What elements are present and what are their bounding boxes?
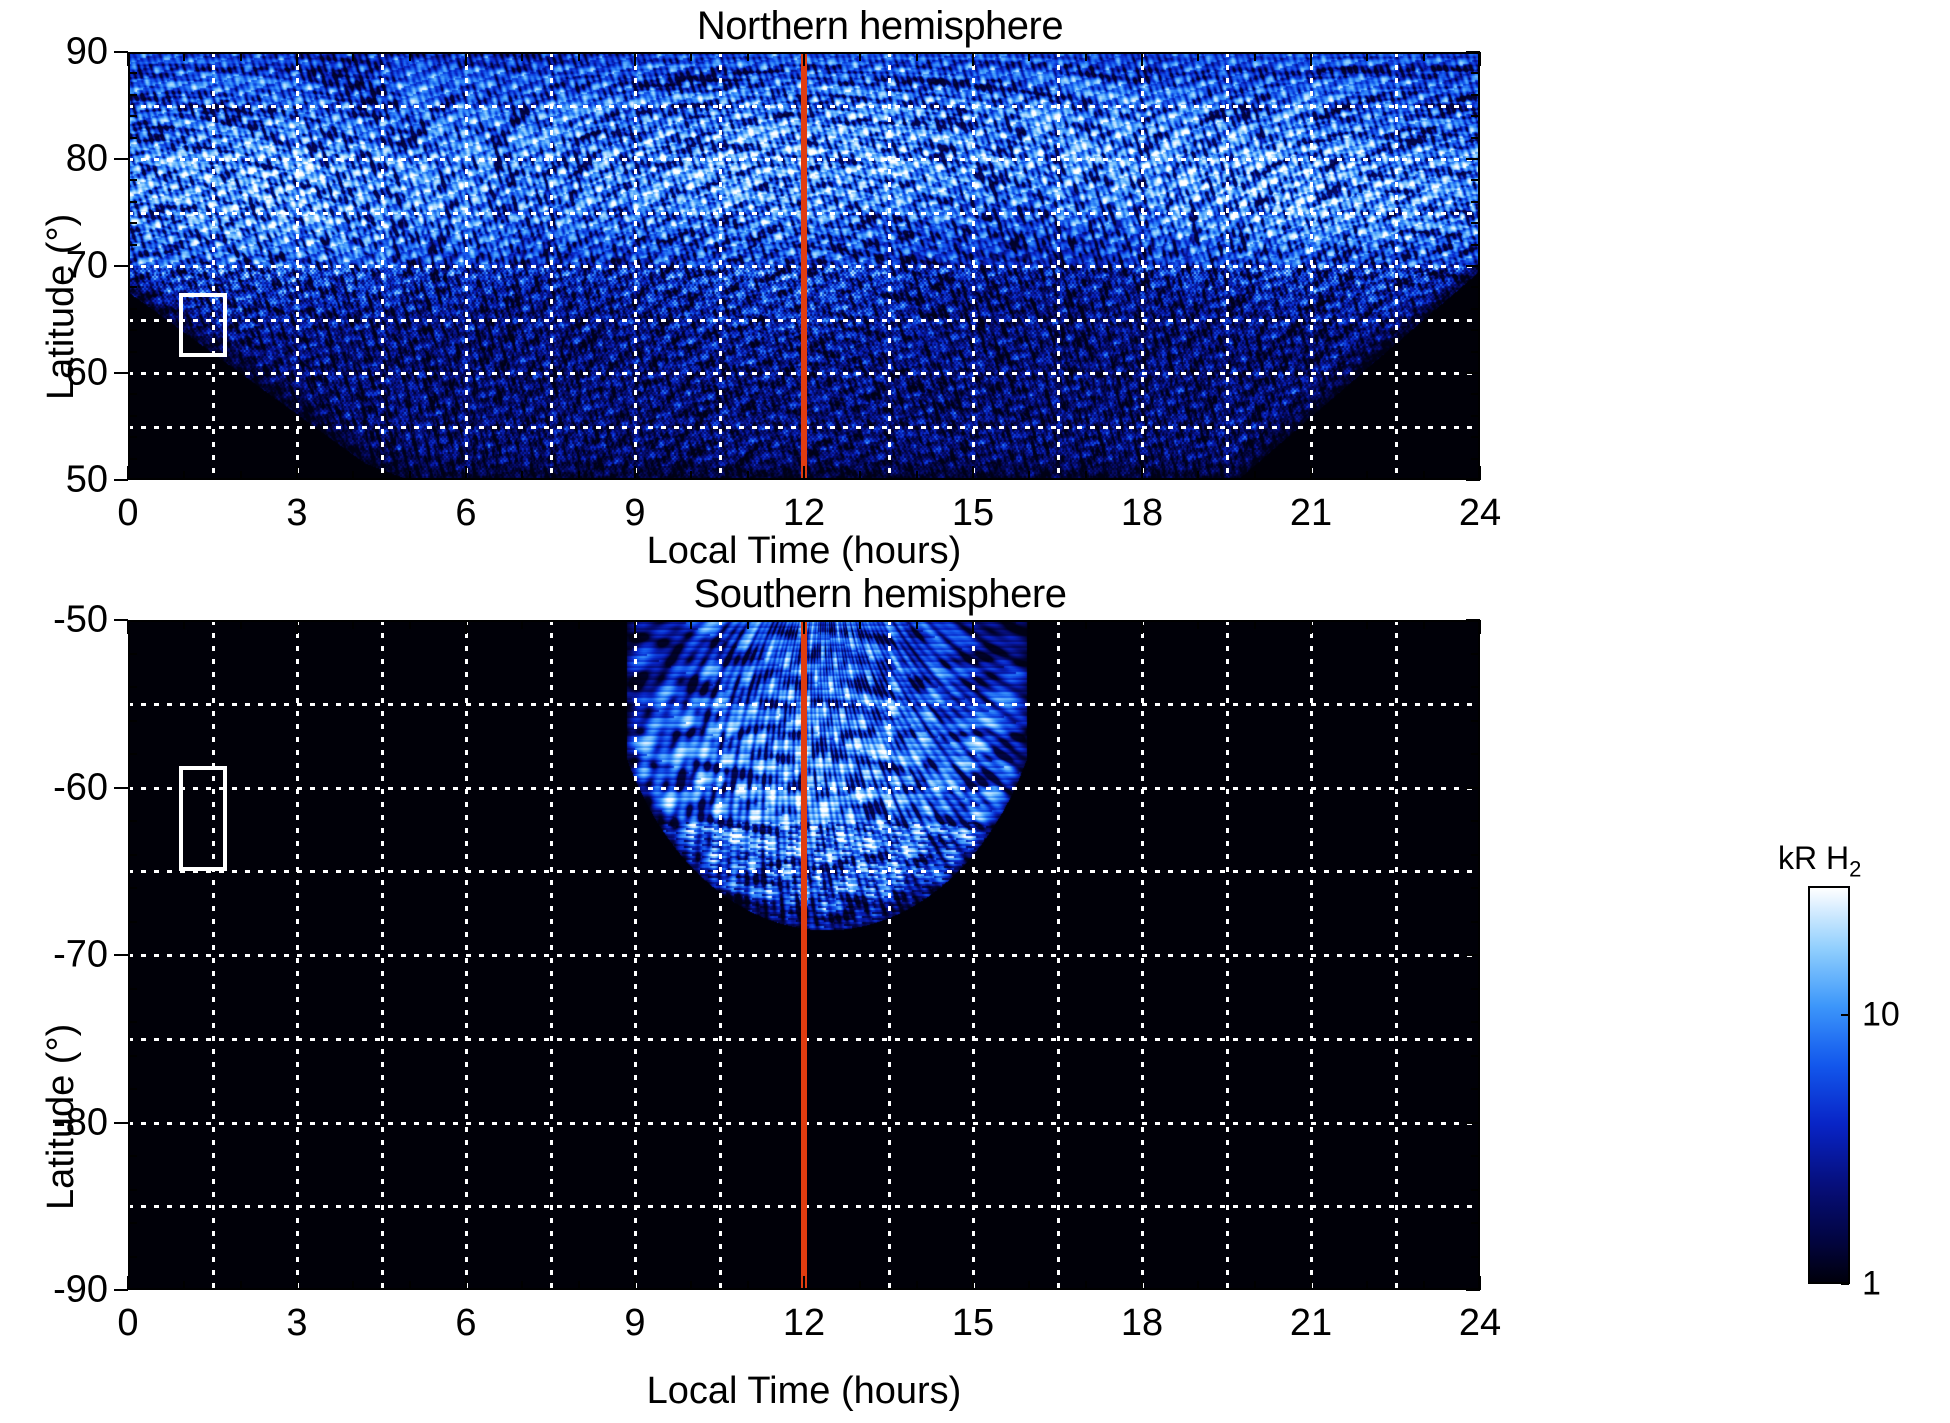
xaxis-tick-label: 21 xyxy=(1290,492,1332,535)
yaxis-minor-tick xyxy=(1471,1155,1480,1157)
yaxis-minor-tick xyxy=(128,179,137,181)
xaxis-tick-label: 6 xyxy=(455,1302,476,1345)
yaxis-minor-tick xyxy=(128,854,137,856)
yaxis-minor-tick xyxy=(1471,244,1480,246)
yaxis-title-southern: Latitude (°) xyxy=(40,1024,83,1210)
yaxis-minor-tick xyxy=(128,1189,137,1191)
colorbar-unit-subscript: 2 xyxy=(1849,856,1861,881)
xaxis-title-northern: Local Time (hours) xyxy=(128,530,1480,573)
xaxis-tick-label: 24 xyxy=(1459,1302,1501,1345)
yaxis-minor-tick xyxy=(1471,286,1480,288)
yaxis-minor-tick xyxy=(1471,115,1480,117)
xaxis-minor-tick xyxy=(1254,471,1256,480)
xaxis-major-tick xyxy=(127,466,129,480)
xaxis-major-tick xyxy=(972,52,974,66)
xaxis-minor-tick xyxy=(747,620,749,629)
yaxis-minor-tick xyxy=(128,415,137,417)
xaxis-major-tick xyxy=(465,466,467,480)
colorbar-unit-label: kR H2 xyxy=(1778,840,1861,882)
xaxis-tick-label: 18 xyxy=(1121,1302,1163,1345)
yaxis-major-tick xyxy=(1466,1122,1480,1124)
xaxis-major-tick xyxy=(1141,52,1143,66)
xaxis-major-tick xyxy=(127,620,129,634)
xaxis-tick-label: 0 xyxy=(117,492,138,535)
xaxis-minor-tick xyxy=(521,620,523,629)
yaxis-minor-tick xyxy=(1471,854,1480,856)
xaxis-major-tick xyxy=(803,466,805,480)
yaxis-minor-tick xyxy=(1471,393,1480,395)
yaxis-minor-tick xyxy=(128,921,137,923)
xaxis-minor-tick xyxy=(1366,620,1368,629)
xaxis-minor-tick xyxy=(409,52,411,61)
yaxis-minor-tick xyxy=(128,222,137,224)
xaxis-major-tick xyxy=(803,620,805,634)
xaxis-minor-tick xyxy=(916,471,918,480)
yaxis-minor-tick xyxy=(128,820,137,822)
xaxis-minor-tick xyxy=(521,52,523,61)
yaxis-minor-tick xyxy=(128,1256,137,1258)
yaxis-major-tick xyxy=(114,265,128,267)
xaxis-minor-tick xyxy=(352,471,354,480)
xaxis-major-tick xyxy=(1479,52,1481,66)
xaxis-major-tick xyxy=(1479,620,1481,634)
xaxis-major-tick xyxy=(1141,620,1143,634)
xaxis-minor-tick xyxy=(1085,52,1087,61)
xaxis-minor-tick xyxy=(183,1281,185,1290)
xaxis-minor-tick xyxy=(916,1281,918,1290)
yaxis-minor-tick xyxy=(1471,753,1480,755)
yaxis-minor-tick xyxy=(1471,72,1480,74)
yaxis-title-northern: Latitude (°) xyxy=(40,214,83,400)
yaxis-minor-tick xyxy=(128,244,137,246)
xaxis-minor-tick xyxy=(240,620,242,629)
yaxis-minor-tick xyxy=(1471,458,1480,460)
yaxis-major-tick xyxy=(1466,51,1480,53)
yaxis-minor-tick xyxy=(128,351,137,353)
xaxis-minor-tick xyxy=(1085,1281,1087,1290)
panel-title-southern: Southern hemisphere xyxy=(0,572,1760,617)
yaxis-minor-tick xyxy=(128,458,137,460)
yaxis-minor-tick xyxy=(1471,436,1480,438)
xaxis-major-tick xyxy=(296,466,298,480)
yaxis-minor-tick xyxy=(128,1055,137,1057)
xaxis-minor-tick xyxy=(240,1281,242,1290)
yaxis-minor-tick xyxy=(1471,308,1480,310)
xaxis-major-tick xyxy=(465,620,467,634)
panel-southern-hemisphere: Southern hemisphere 03691215182124-50-60… xyxy=(0,570,1760,1423)
noon-marker-southern xyxy=(801,620,807,1290)
colorbar-tick xyxy=(1841,1014,1849,1016)
yaxis-major-tick xyxy=(114,1122,128,1124)
yaxis-minor-tick xyxy=(128,753,137,755)
roi-box-northern xyxy=(179,293,227,357)
xaxis-minor-tick xyxy=(1028,1281,1030,1290)
xaxis-minor-tick xyxy=(1366,52,1368,61)
xaxis-minor-tick xyxy=(183,471,185,480)
noon-marker-northern xyxy=(801,52,807,480)
yaxis-minor-tick xyxy=(1471,988,1480,990)
yaxis-minor-tick xyxy=(128,72,137,74)
xaxis-major-tick xyxy=(972,620,974,634)
yaxis-minor-tick xyxy=(1471,179,1480,181)
xaxis-minor-tick xyxy=(578,52,580,61)
xaxis-major-tick xyxy=(127,52,129,66)
panel-northern-hemisphere: Northern hemisphere 03691215182124506070… xyxy=(0,0,1760,570)
colorbar-unit-prefix: kR H xyxy=(1778,840,1849,876)
xaxis-tick-label: 12 xyxy=(783,492,825,535)
xaxis-tick-label: 3 xyxy=(286,492,307,535)
yaxis-minor-tick xyxy=(128,94,137,96)
xaxis-major-tick xyxy=(1310,52,1312,66)
xaxis-minor-tick xyxy=(690,620,692,629)
xaxis-tick-label: 21 xyxy=(1290,1302,1332,1345)
xaxis-minor-tick xyxy=(1085,471,1087,480)
xaxis-minor-tick xyxy=(1254,1281,1256,1290)
xaxis-minor-tick xyxy=(578,471,580,480)
xaxis-minor-tick xyxy=(352,52,354,61)
yaxis-minor-tick xyxy=(128,1021,137,1023)
yaxis-minor-tick xyxy=(1471,1189,1480,1191)
yaxis-minor-tick xyxy=(1471,222,1480,224)
xaxis-minor-tick xyxy=(352,1281,354,1290)
xaxis-minor-tick xyxy=(521,1281,523,1290)
xaxis-minor-tick xyxy=(240,471,242,480)
xaxis-minor-tick xyxy=(1254,52,1256,61)
xaxis-minor-tick xyxy=(859,52,861,61)
yaxis-minor-tick xyxy=(128,1155,137,1157)
yaxis-minor-tick xyxy=(128,1222,137,1224)
yaxis-minor-tick xyxy=(128,1088,137,1090)
yaxis-minor-tick xyxy=(128,115,137,117)
xaxis-major-tick xyxy=(1479,1276,1481,1290)
plot-area-southern xyxy=(128,620,1480,1290)
xaxis-minor-tick xyxy=(1197,620,1199,629)
yaxis-minor-tick xyxy=(128,329,137,331)
xaxis-tick-label: 18 xyxy=(1121,492,1163,535)
xaxis-minor-tick xyxy=(183,620,185,629)
yaxis-tick-label: -60 xyxy=(0,766,108,809)
yaxis-minor-tick xyxy=(128,201,137,203)
xaxis-minor-tick xyxy=(578,620,580,629)
yaxis-minor-tick xyxy=(128,720,137,722)
xaxis-tick-label: 9 xyxy=(624,1302,645,1345)
xaxis-tick-label: 6 xyxy=(455,492,476,535)
xaxis-minor-tick xyxy=(1197,471,1199,480)
xaxis-minor-tick xyxy=(690,1281,692,1290)
xaxis-tick-label: 15 xyxy=(952,492,994,535)
yaxis-minor-tick xyxy=(128,137,137,139)
xaxis-minor-tick xyxy=(1366,1281,1368,1290)
colorbar-tick-label: 10 xyxy=(1862,995,1900,1034)
colorbar-gradient xyxy=(1808,886,1850,1284)
yaxis-major-tick xyxy=(114,158,128,160)
xaxis-tick-label: 15 xyxy=(952,1302,994,1345)
xaxis-minor-tick xyxy=(409,1281,411,1290)
xaxis-minor-tick xyxy=(916,620,918,629)
xaxis-major-tick xyxy=(1141,1276,1143,1290)
xaxis-minor-tick xyxy=(1028,620,1030,629)
yaxis-major-tick xyxy=(1466,372,1480,374)
xaxis-minor-tick xyxy=(1028,471,1030,480)
xaxis-tick-label: 24 xyxy=(1459,492,1501,535)
yaxis-tick-label: -50 xyxy=(0,599,108,642)
xaxis-major-tick xyxy=(972,466,974,480)
yaxis-minor-tick xyxy=(1471,921,1480,923)
yaxis-tick-label: 50 xyxy=(0,459,108,502)
xaxis-major-tick xyxy=(127,1276,129,1290)
xaxis-minor-tick xyxy=(859,471,861,480)
xaxis-minor-tick xyxy=(747,52,749,61)
xaxis-minor-tick xyxy=(1423,1281,1425,1290)
xaxis-minor-tick xyxy=(1085,620,1087,629)
yaxis-minor-tick xyxy=(128,436,137,438)
yaxis-minor-tick xyxy=(1471,720,1480,722)
xaxis-major-tick xyxy=(465,52,467,66)
xaxis-major-tick xyxy=(803,52,805,66)
yaxis-major-tick xyxy=(114,479,128,481)
xaxis-minor-tick xyxy=(747,1281,749,1290)
colorbar-tick xyxy=(1841,1283,1849,1285)
yaxis-minor-tick xyxy=(1471,686,1480,688)
yaxis-minor-tick xyxy=(1471,1021,1480,1023)
yaxis-minor-tick xyxy=(1471,887,1480,889)
xaxis-tick-label: 3 xyxy=(286,1302,307,1345)
xaxis-minor-tick xyxy=(859,1281,861,1290)
yaxis-minor-tick xyxy=(1471,1256,1480,1258)
xaxis-major-tick xyxy=(634,620,636,634)
yaxis-major-tick xyxy=(1466,954,1480,956)
yaxis-minor-tick xyxy=(1471,329,1480,331)
xaxis-major-tick xyxy=(972,1276,974,1290)
xaxis-major-tick xyxy=(1310,1276,1312,1290)
yaxis-minor-tick xyxy=(128,286,137,288)
yaxis-minor-tick xyxy=(128,887,137,889)
yaxis-major-tick xyxy=(1466,479,1480,481)
yaxis-minor-tick xyxy=(128,308,137,310)
yaxis-major-tick xyxy=(1466,619,1480,621)
xaxis-minor-tick xyxy=(409,620,411,629)
yaxis-major-tick xyxy=(114,372,128,374)
xaxis-major-tick xyxy=(465,1276,467,1290)
yaxis-major-tick xyxy=(114,619,128,621)
yaxis-minor-tick xyxy=(1471,1222,1480,1224)
xaxis-minor-tick xyxy=(240,52,242,61)
xaxis-tick-label: 0 xyxy=(117,1302,138,1345)
xaxis-minor-tick xyxy=(690,52,692,61)
xaxis-major-tick xyxy=(296,620,298,634)
yaxis-major-tick xyxy=(114,954,128,956)
xaxis-major-tick xyxy=(634,52,636,66)
xaxis-minor-tick xyxy=(578,1281,580,1290)
yaxis-minor-tick xyxy=(128,653,137,655)
xaxis-minor-tick xyxy=(183,52,185,61)
yaxis-major-tick xyxy=(1466,787,1480,789)
panel-title-northern: Northern hemisphere xyxy=(0,4,1760,49)
yaxis-major-tick xyxy=(1466,265,1480,267)
yaxis-minor-tick xyxy=(1471,415,1480,417)
xaxis-minor-tick xyxy=(1028,52,1030,61)
plot-area-northern xyxy=(128,52,1480,480)
xaxis-minor-tick xyxy=(747,471,749,480)
xaxis-major-tick xyxy=(803,1276,805,1290)
colorbar: kR H2 101 xyxy=(1770,840,1950,1300)
yaxis-major-tick xyxy=(114,51,128,53)
xaxis-major-tick xyxy=(1310,466,1312,480)
xaxis-minor-tick xyxy=(1254,620,1256,629)
xaxis-minor-tick xyxy=(1197,52,1199,61)
xaxis-major-tick xyxy=(634,466,636,480)
xaxis-tick-label: 9 xyxy=(624,492,645,535)
yaxis-tick-label: 90 xyxy=(0,31,108,74)
yaxis-minor-tick xyxy=(1471,1088,1480,1090)
xaxis-minor-tick xyxy=(1423,471,1425,480)
xaxis-minor-tick xyxy=(352,620,354,629)
yaxis-minor-tick xyxy=(1471,653,1480,655)
figure-root: Northern hemisphere 03691215182124506070… xyxy=(0,0,1950,1423)
xaxis-minor-tick xyxy=(690,471,692,480)
yaxis-minor-tick xyxy=(1471,820,1480,822)
yaxis-major-tick xyxy=(114,1289,128,1291)
xaxis-minor-tick xyxy=(1423,620,1425,629)
yaxis-minor-tick xyxy=(1471,137,1480,139)
yaxis-minor-tick xyxy=(128,686,137,688)
colorbar-tick-label: 1 xyxy=(1862,1265,1881,1304)
yaxis-tick-label: -70 xyxy=(0,934,108,977)
xaxis-minor-tick xyxy=(1197,1281,1199,1290)
xaxis-title-southern: Local Time (hours) xyxy=(128,1370,1480,1413)
xaxis-minor-tick xyxy=(859,620,861,629)
xaxis-major-tick xyxy=(1141,466,1143,480)
xaxis-minor-tick xyxy=(521,471,523,480)
yaxis-tick-label: 80 xyxy=(0,138,108,181)
yaxis-minor-tick xyxy=(1471,201,1480,203)
yaxis-major-tick xyxy=(114,787,128,789)
xaxis-major-tick xyxy=(1479,466,1481,480)
yaxis-major-tick xyxy=(1466,158,1480,160)
yaxis-tick-label: -90 xyxy=(0,1269,108,1312)
xaxis-minor-tick xyxy=(1423,52,1425,61)
yaxis-minor-tick xyxy=(1471,94,1480,96)
yaxis-minor-tick xyxy=(128,988,137,990)
yaxis-major-tick xyxy=(1466,1289,1480,1291)
yaxis-minor-tick xyxy=(128,393,137,395)
xaxis-major-tick xyxy=(634,1276,636,1290)
xaxis-tick-label: 12 xyxy=(783,1302,825,1345)
xaxis-minor-tick xyxy=(1366,471,1368,480)
xaxis-minor-tick xyxy=(409,471,411,480)
xaxis-major-tick xyxy=(1310,620,1312,634)
xaxis-major-tick xyxy=(296,52,298,66)
xaxis-minor-tick xyxy=(916,52,918,61)
yaxis-minor-tick xyxy=(1471,351,1480,353)
xaxis-major-tick xyxy=(296,1276,298,1290)
roi-box-southern xyxy=(179,766,227,872)
yaxis-minor-tick xyxy=(1471,1055,1480,1057)
